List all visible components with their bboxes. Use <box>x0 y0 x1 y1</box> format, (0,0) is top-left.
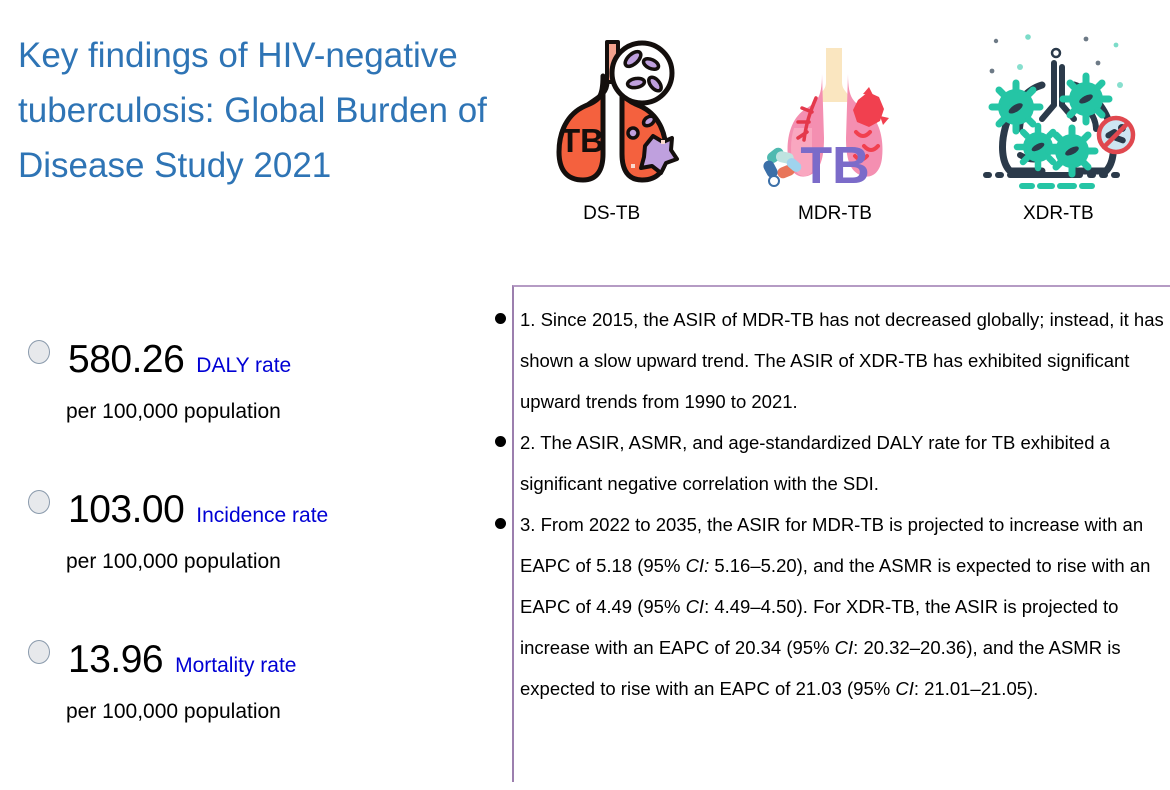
findings-list: 1. Since 2015, the ASIR of MDR-TB has no… <box>484 299 1170 709</box>
finding-text: 1. Since 2015, the ASIR of MDR-TB has no… <box>520 299 1168 422</box>
circle-outline-icon <box>28 340 50 364</box>
stat-block-mortality: 13.96 Mortality rate per 100,000 populat… <box>0 640 500 790</box>
icon-cell-xdr-tb: XDR-TB <box>958 20 1158 225</box>
no-drugs-icon <box>1099 118 1133 152</box>
key-statistics-list: 580.26 DALY rate per 100,000 population … <box>0 340 500 790</box>
icon-caption-xdr-tb: XDR-TB <box>1023 203 1094 225</box>
icon-caption-ds-tb: DS-TB <box>583 203 640 225</box>
mdr-tb-inner-label: TB <box>800 137 869 188</box>
circle-outline-icon <box>28 490 50 514</box>
finding-item: 3. From 2022 to 2035, the ASIR for MDR-T… <box>484 504 1170 709</box>
finding-text: 2. The ASIR, ASMR, and age-standardized … <box>520 422 1168 504</box>
stat-sublabel: per 100,000 population <box>0 700 500 724</box>
ds-tb-inner-label: TB <box>560 122 604 159</box>
page-title: Key findings of HIV-negative tuberculosi… <box>18 28 488 193</box>
finding-text: 3. From 2022 to 2035, the ASIR for MDR-T… <box>520 504 1168 709</box>
stat-block-incidence: 103.00 Incidence rate per 100,000 popula… <box>0 490 500 640</box>
stat-value: 580.26 <box>68 340 184 380</box>
finding-item: 1. Since 2015, the ASIR of MDR-TB has no… <box>484 299 1170 422</box>
lungs-xdr-tb-icon <box>973 20 1143 195</box>
circle-outline-icon <box>28 640 50 664</box>
stat-row: 103.00 Incidence rate <box>0 490 500 530</box>
left-column: Key findings of HIV-negative tuberculosi… <box>0 0 500 782</box>
lungs-mdr-tb-icon: TB <box>750 20 920 195</box>
key-findings-panel: 1. Since 2015, the ASIR of MDR-TB has no… <box>484 285 1170 782</box>
stat-label: DALY rate <box>196 354 291 378</box>
stat-label: Incidence rate <box>196 504 328 528</box>
finding-item: 2. The ASIR, ASMR, and age-standardized … <box>484 422 1170 504</box>
icon-caption-mdr-tb: MDR-TB <box>798 203 872 225</box>
lungs-ds-tb-icon: TB <box>527 20 697 195</box>
stat-value: 13.96 <box>68 640 163 680</box>
bullet-icon <box>495 436 506 447</box>
bullet-icon <box>495 313 506 324</box>
stat-row: 580.26 DALY rate <box>0 340 500 380</box>
stat-sublabel: per 100,000 population <box>0 400 500 424</box>
icon-cell-mdr-tb: TB MDR-TB <box>735 20 935 225</box>
stat-value: 103.00 <box>68 490 184 530</box>
stat-row: 13.96 Mortality rate <box>0 640 500 680</box>
stat-label: Mortality rate <box>175 654 296 678</box>
tb-type-icon-row: TB DS-TB <box>500 20 1170 270</box>
icon-cell-ds-tb: TB DS-TB <box>512 20 712 225</box>
stat-block-daly: 580.26 DALY rate per 100,000 population <box>0 340 500 490</box>
bullet-icon <box>495 518 506 529</box>
stat-sublabel: per 100,000 population <box>0 550 500 574</box>
